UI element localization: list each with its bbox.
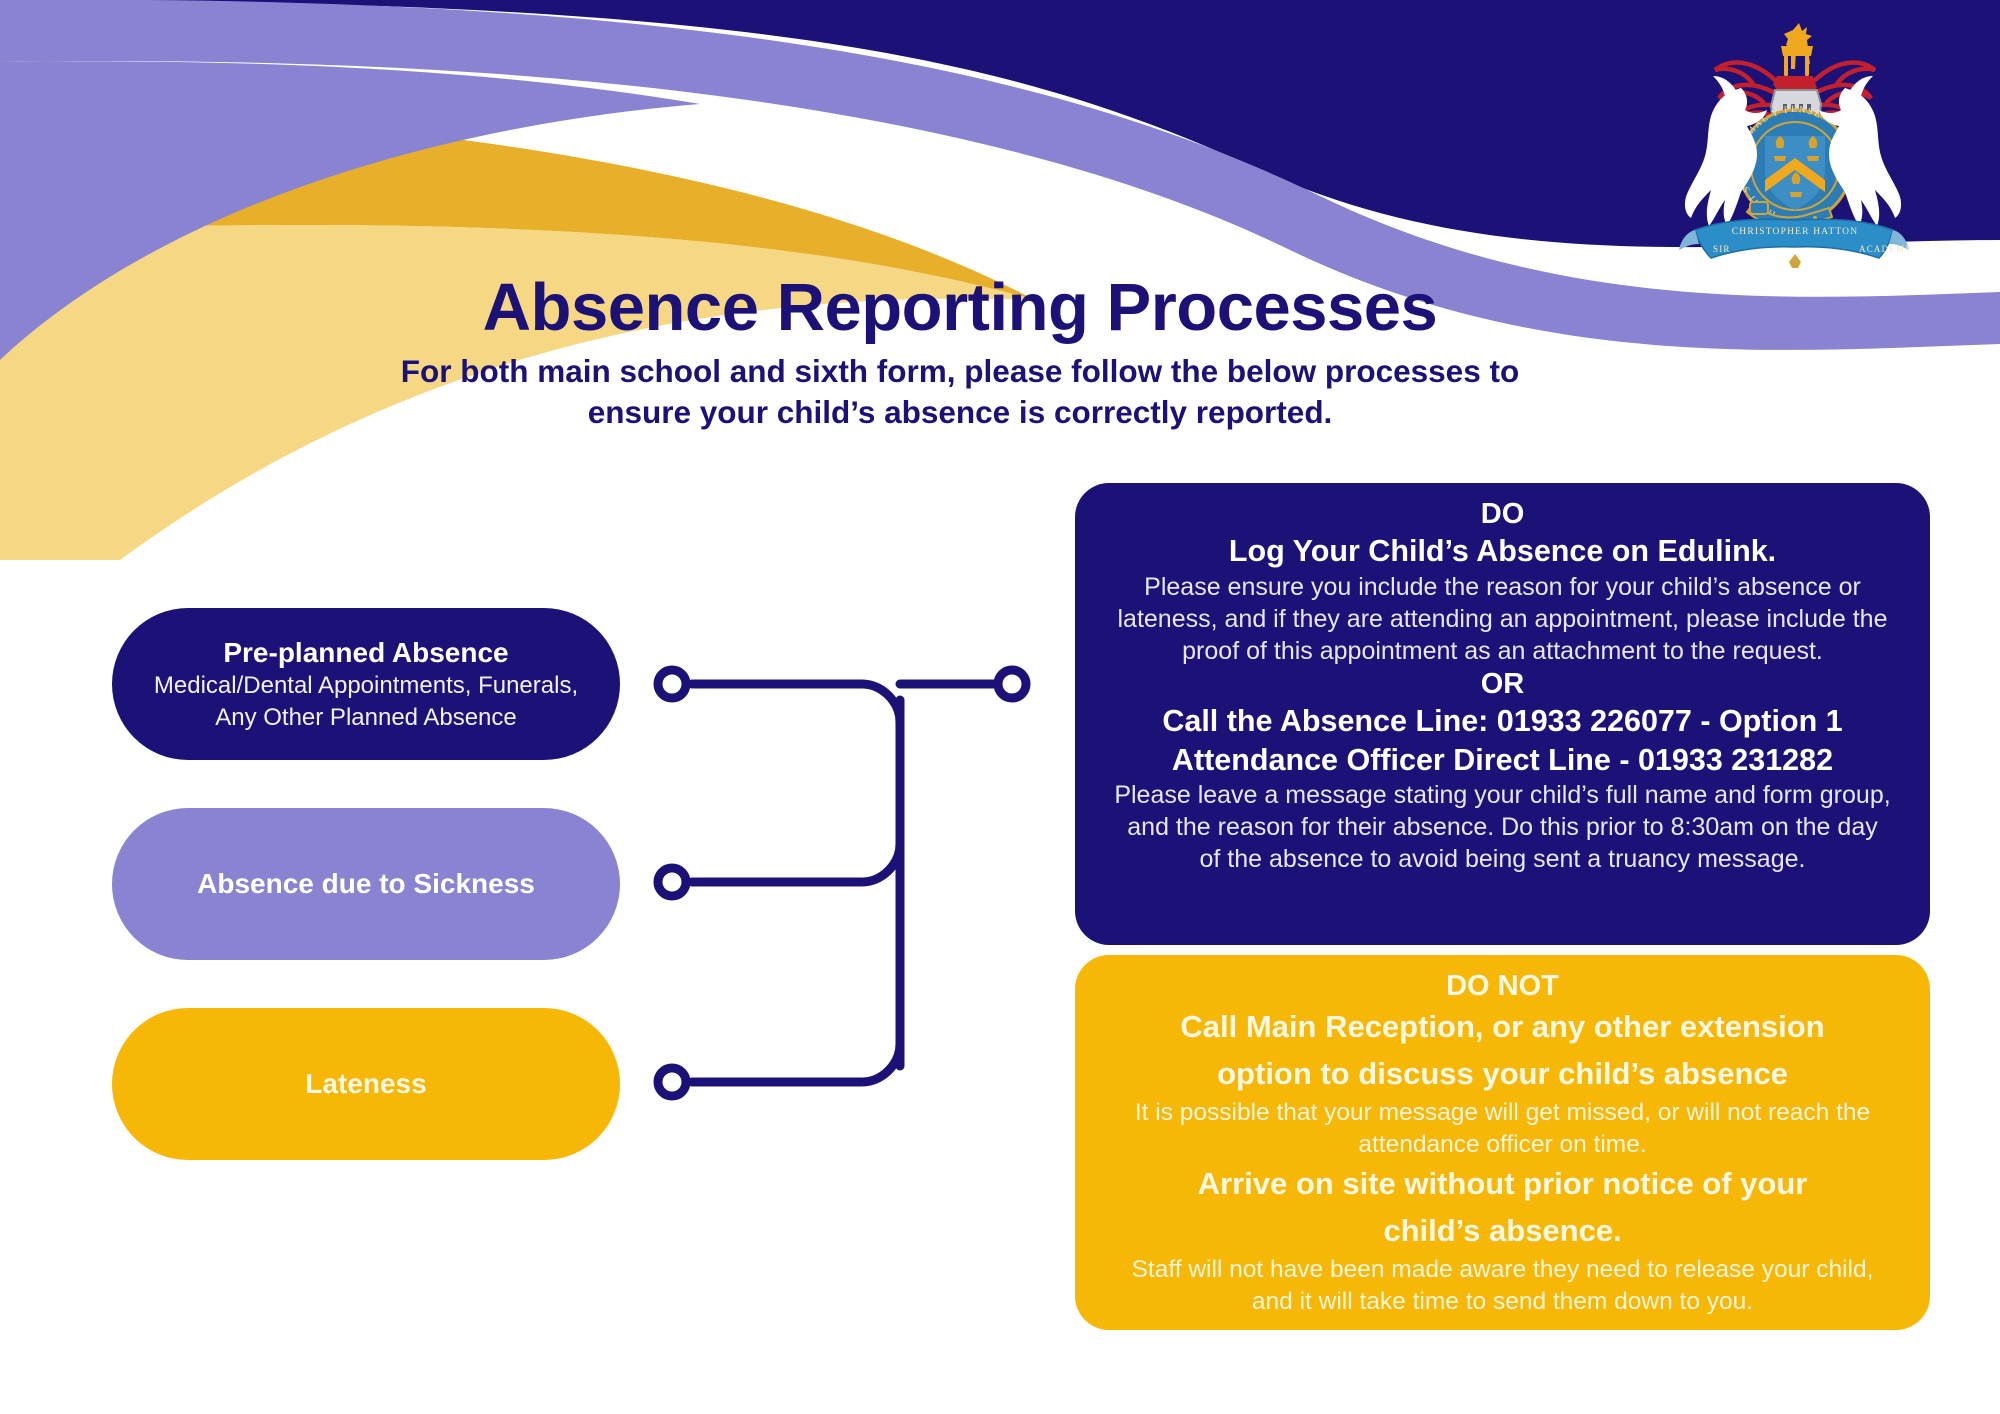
do-body-1-line-3: proof of this appointment as an attachme…	[1101, 635, 1904, 667]
page-title: Absence Reporting Processes	[320, 272, 1600, 343]
connector-path-bottom	[692, 1044, 900, 1082]
category-subtext-line-1: Medical/Dental Appointments, Funerals,	[154, 671, 578, 700]
category-pill-pre-planned-absence[interactable]: Pre-planned Absence Medical/Dental Appoi…	[112, 608, 620, 760]
do-not-body-2-line-2: and it will take time to send them down …	[1101, 1286, 1904, 1318]
category-title: Lateness	[305, 1067, 426, 1100]
crest-ribbon-right-text: ACADEMY	[1859, 244, 1913, 254]
do-panel: DO Log Your Child’s Absence on Edulink. …	[1075, 483, 1930, 945]
do-not-headline-1-line-1: Call Main Reception, or any other extens…	[1101, 1004, 1904, 1051]
category-title: Absence due to Sickness	[197, 867, 535, 900]
connector-node-sickness[interactable]	[658, 868, 686, 896]
category-subtext-line-2: Any Other Planned Absence	[215, 703, 517, 732]
category-pill-lateness[interactable]: Lateness	[112, 1008, 620, 1160]
do-headline-absence-line: Call the Absence Line: 01933 226077 - Op…	[1101, 702, 1904, 740]
do-body-2-line-2: and the reason for their absence. Do thi…	[1101, 811, 1904, 843]
do-not-headline-2-line-1: Arrive on site without prior notice of y…	[1101, 1161, 1904, 1208]
do-not-kicker: DO NOT	[1101, 969, 1904, 1004]
page-subtitle-line-2: ensure your child’s absence is correctly…	[320, 392, 1600, 433]
do-body-2-line-3: of the absence to avoid being sent a tru…	[1101, 843, 1904, 875]
connector-path-middle	[692, 844, 900, 882]
crest-ribbon-banner: SIR CHRISTOPHER HATTON ACADEMY	[1679, 219, 1913, 268]
connector-node-pre-planned[interactable]	[658, 670, 686, 698]
connector-node-do-box[interactable]	[998, 670, 1026, 698]
crest-ribbon-left-text: SIR	[1713, 244, 1731, 254]
do-body-2-line-1: Please leave a message stating your chil…	[1101, 779, 1904, 811]
page-subtitle: For both main school and sixth form, ple…	[320, 351, 1600, 432]
crest-stag-icon	[1781, 23, 1813, 76]
title-block: Absence Reporting Processes For both mai…	[320, 272, 1600, 432]
school-crest-logo: HONI SOIT QUI MAL Y PENSE	[1653, 18, 1933, 273]
do-not-headline-2-line-2: child’s absence.	[1101, 1208, 1904, 1255]
do-body-1-line-2: lateness, and if they are attending an a…	[1101, 603, 1904, 635]
poster-canvas: HONI SOIT QUI MAL Y PENSE	[0, 0, 2000, 1414]
category-pill-absence-due-to-sickness[interactable]: Absence due to Sickness	[112, 808, 620, 960]
page-subtitle-line-1: For both main school and sixth form, ple…	[320, 351, 1600, 392]
crest-ribbon-center-text: CHRISTOPHER HATTON	[1732, 227, 1859, 237]
do-not-body-2-line-1: Staff will not have been made aware they…	[1101, 1254, 1904, 1286]
do-not-headline-1-line-2: option to discuss your child’s absence	[1101, 1051, 1904, 1098]
do-headline-attendance-officer: Attendance Officer Direct Line - 01933 2…	[1101, 741, 1904, 779]
do-headline-edulink: Log Your Child’s Absence on Edulink.	[1101, 532, 1904, 570]
do-kicker: DO	[1101, 497, 1904, 532]
do-not-body-1-line-1: It is possible that your message will ge…	[1101, 1097, 1904, 1129]
do-not-body-1-line-2: attendance officer on time.	[1101, 1129, 1904, 1161]
flow-connector-diagram	[620, 580, 1100, 1200]
connector-node-lateness[interactable]	[658, 1068, 686, 1096]
do-divider-or: OR	[1101, 667, 1904, 702]
connector-path-top	[692, 684, 900, 722]
do-body-1-line-1: Please ensure you include the reason for…	[1101, 571, 1904, 603]
category-title: Pre-planned Absence	[223, 636, 508, 669]
do-not-panel: DO NOT Call Main Reception, or any other…	[1075, 955, 1930, 1330]
